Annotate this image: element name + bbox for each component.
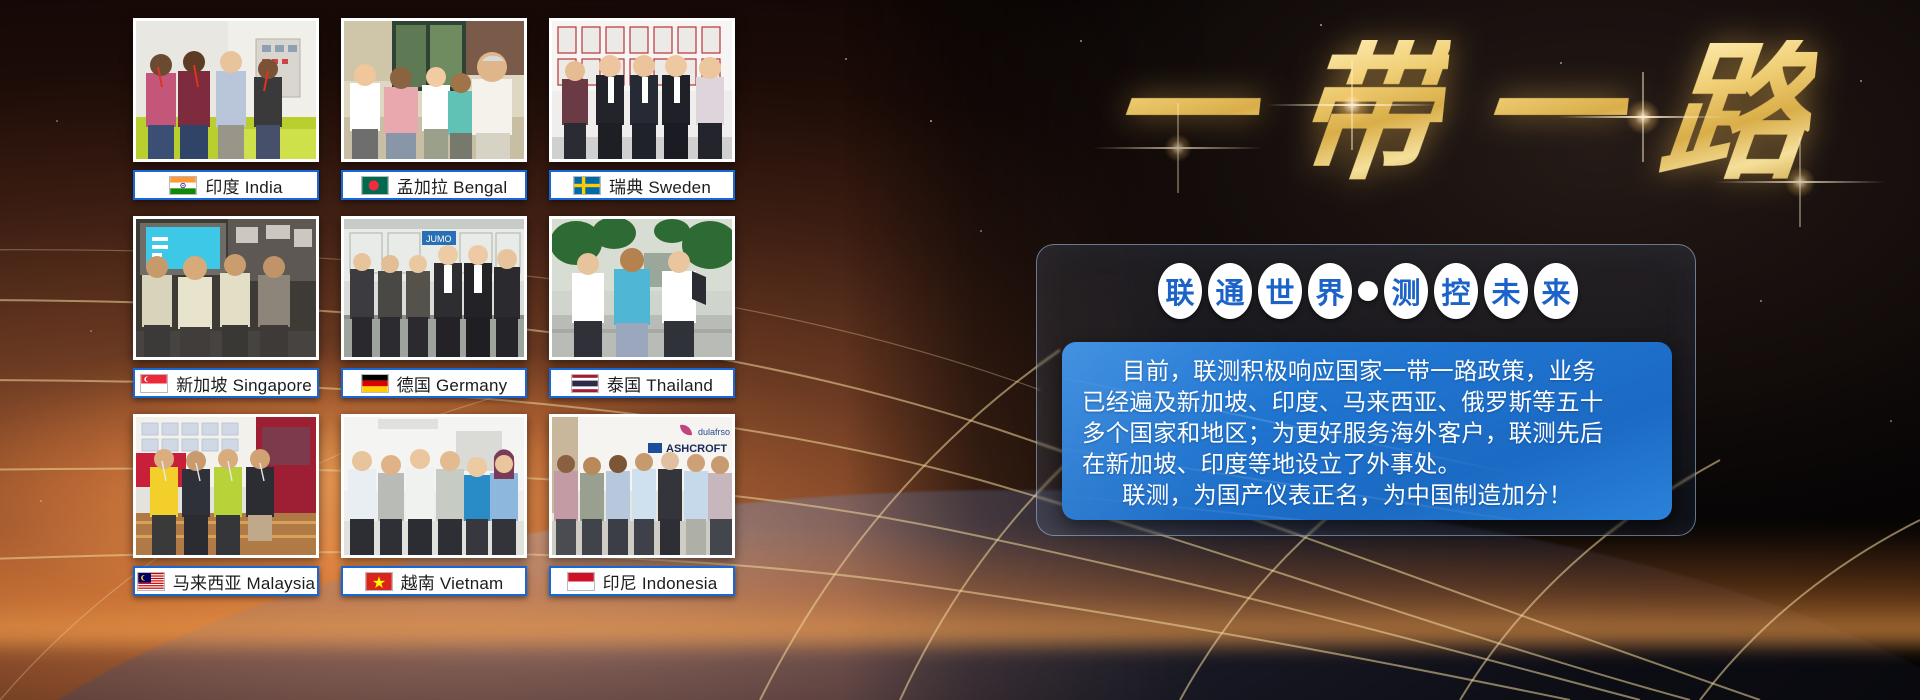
flag-thailand-icon (571, 374, 599, 393)
country-label-thailand: 泰国 Thailand (549, 368, 735, 398)
country-label-text: 马来西亚 Malaysia (173, 569, 315, 594)
flag-malaysia-icon (137, 572, 165, 591)
gallery-item-indonesia[interactable]: dulafrso ASHCROFT (549, 414, 735, 599)
country-label-vietnam: 越南 Vietnam (341, 566, 527, 596)
gallery-item-sweden[interactable]: 瑞典 Sweden (549, 18, 735, 203)
description-line-2: 已经遍及新加坡、印度、马来西亚、俄罗斯等五十 (1082, 387, 1652, 418)
banner-stage: 印度 India (0, 0, 1920, 700)
photo-sweden-group (549, 18, 735, 162)
svg-text:dulafrso: dulafrso (698, 427, 730, 437)
headline-char-3: 一 (1469, 40, 1635, 190)
slogan-char-6: 控 (1434, 263, 1478, 319)
country-photo-grid: 印度 India (133, 18, 813, 586)
description-line-5: 联测，为国产仪表正名，为中国制造加分！ (1082, 480, 1652, 511)
photo-vietnam-team (341, 414, 527, 558)
gallery-item-singapore[interactable]: 新加坡 Singapore (133, 216, 319, 401)
country-label-text: 越南 Vietnam (401, 569, 504, 594)
description-textbox: 目前，联测积极响应国家一带一路政策，业务 已经遍及新加坡、印度、马来西亚、俄罗斯… (1062, 342, 1672, 520)
headline-char-4: 路 (1653, 40, 1819, 190)
gallery-item-malaysia[interactable]: 马来西亚 Malaysia (133, 414, 319, 599)
country-label-indonesia: 印尼 Indonesia (549, 566, 735, 596)
slogan-char-5: 测 (1384, 263, 1428, 319)
photo-germany-jumo: JUMO (341, 216, 527, 360)
country-label-text: 泰国 Thailand (607, 371, 713, 396)
description-line-1: 目前，联测积极响应国家一带一路政策，业务 (1082, 356, 1652, 387)
country-label-text: 印尼 Indonesia (603, 569, 718, 594)
flag-bangladesh-icon (361, 176, 389, 195)
country-label-text: 孟加拉 Bengal (397, 173, 508, 198)
flag-sweden-icon (573, 176, 601, 195)
headline-char-1: 一 (1101, 40, 1267, 190)
slogan-char-3: 世 (1258, 263, 1302, 319)
flag-singapore-icon (140, 374, 168, 393)
slogan-char-2: 通 (1208, 263, 1252, 319)
photo-indonesia-ashcroft: dulafrso ASHCROFT (549, 414, 735, 558)
photo-bengal-factory (341, 18, 527, 162)
gallery-item-bengal[interactable]: 孟加拉 Bengal (341, 18, 527, 203)
photo-malaysia-expo (133, 414, 319, 558)
gallery-item-vietnam[interactable]: 越南 Vietnam (341, 414, 527, 599)
country-label-text: 德国 Germany (397, 371, 508, 396)
flag-germany-icon (361, 374, 389, 393)
flag-vietnam-icon (365, 572, 393, 591)
country-label-text: 新加坡 Singapore (176, 371, 312, 396)
country-label-bengal: 孟加拉 Bengal (341, 170, 527, 200)
photo-singapore-office (133, 216, 319, 360)
country-label-singapore: 新加坡 Singapore (133, 368, 319, 398)
svg-text:ASHCROFT: ASHCROFT (666, 443, 727, 455)
country-label-sweden: 瑞典 Sweden (549, 170, 735, 200)
gallery-item-thailand[interactable]: 泰国 Thailand (549, 216, 735, 401)
description-line-3: 多个国家和地区；为更好服务海外客户，联测先后 (1082, 418, 1652, 449)
headline-char-2: 带 (1285, 40, 1451, 190)
slogan-row: 联 通 世 界 测 控 未 来 (1078, 262, 1658, 320)
description-line-4: 在新加坡、印度等地设立了外事处。 (1082, 449, 1652, 480)
slogan-char-4: 界 (1308, 263, 1352, 319)
photo-india-exhibition (133, 18, 319, 162)
slogan-char-8: 来 (1534, 263, 1578, 319)
photo-thailand-street (549, 216, 735, 360)
country-label-text: 瑞典 Sweden (609, 173, 711, 198)
flag-india-icon (169, 176, 197, 195)
svg-text:JUMO: JUMO (426, 234, 452, 244)
country-label-malaysia: 马来西亚 Malaysia (133, 566, 319, 596)
gallery-item-germany[interactable]: JUMO (341, 216, 527, 401)
country-label-india: 印度 India (133, 170, 319, 200)
country-label-germany: 德国 Germany (341, 368, 527, 398)
slogan-char-1: 联 (1158, 263, 1202, 319)
gallery-item-india[interactable]: 印度 India (133, 18, 319, 203)
slogan-separator-dot (1358, 281, 1378, 301)
country-label-text: 印度 India (205, 173, 282, 198)
slogan-char-7: 未 (1484, 263, 1528, 319)
headline-calligraphy: 一 带 一 路 (1020, 10, 1900, 220)
flag-indonesia-icon (567, 572, 595, 591)
